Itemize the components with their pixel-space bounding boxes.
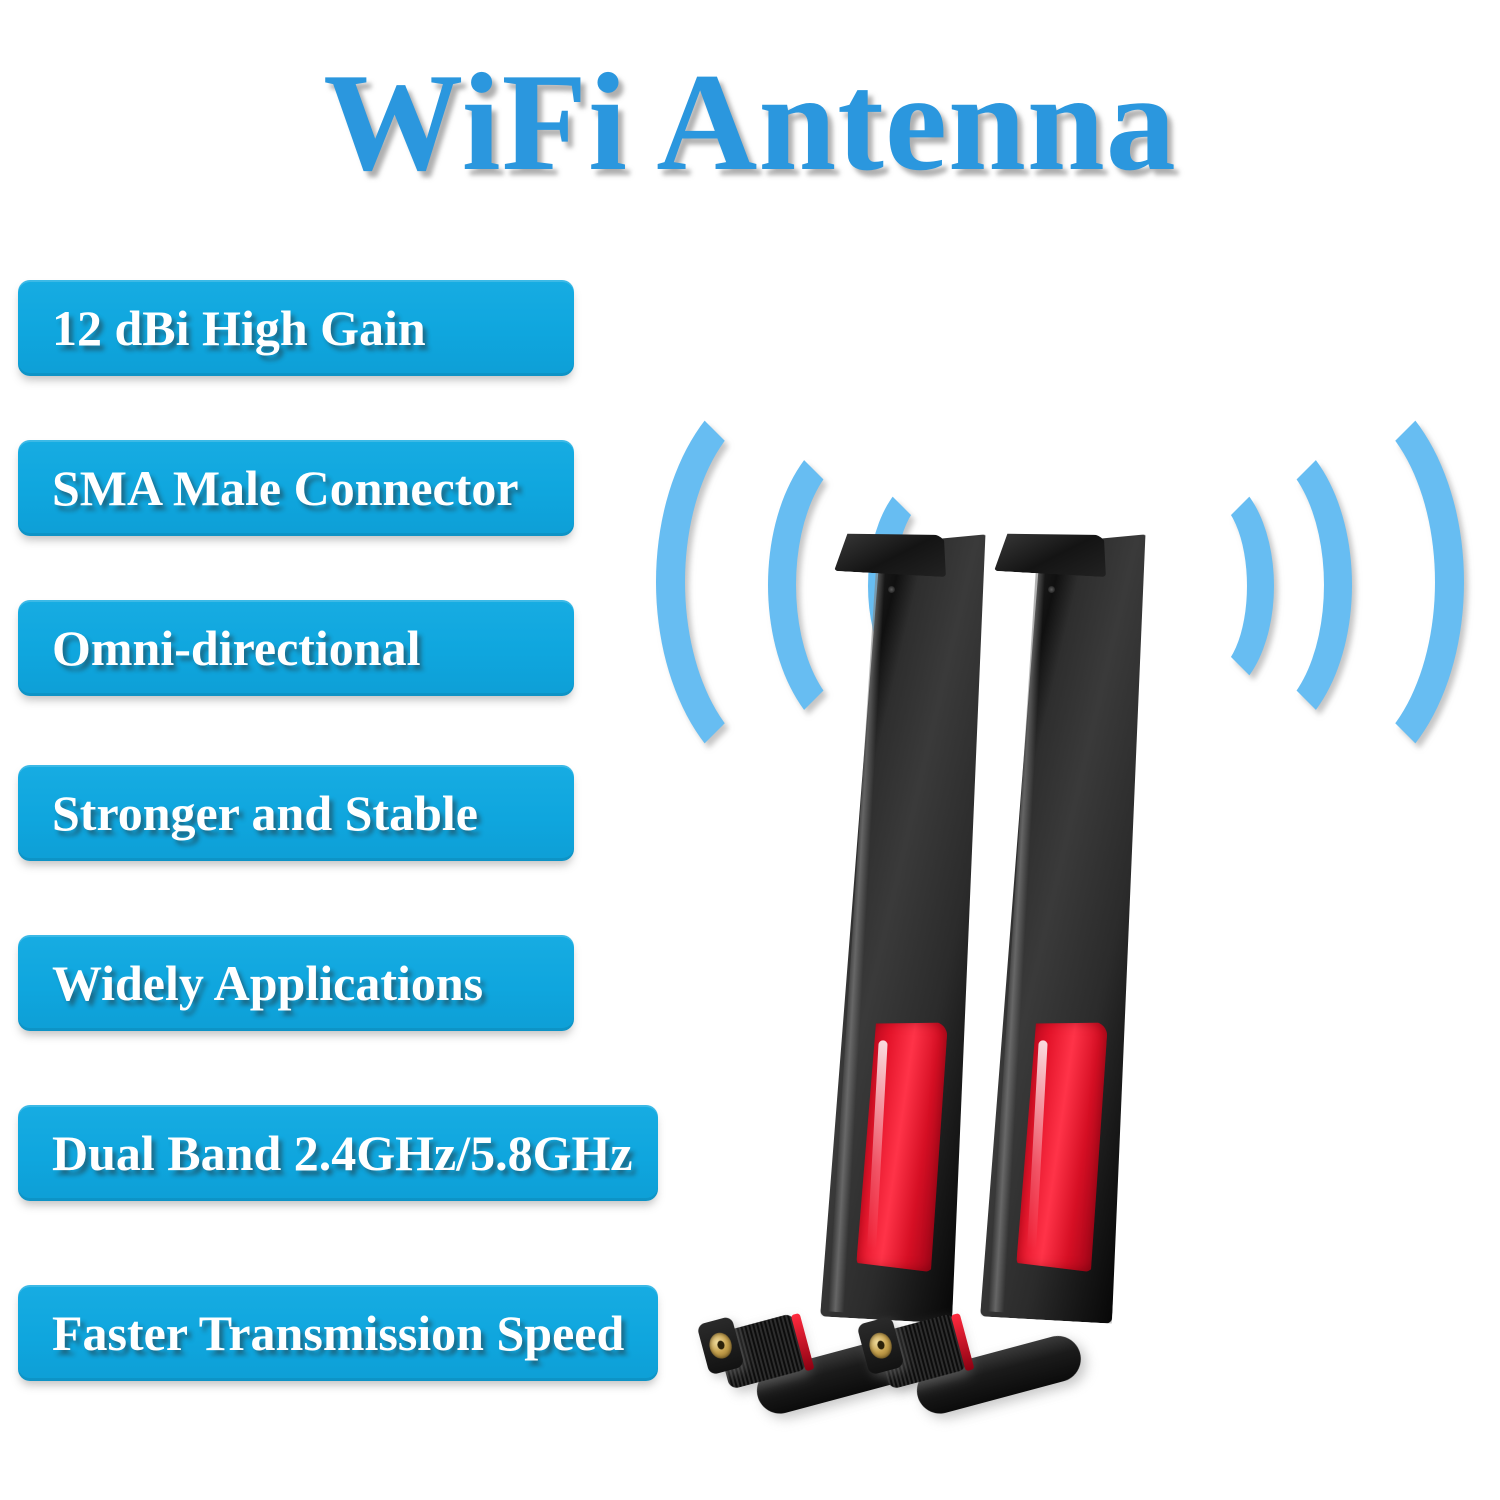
feature-badge-label: Faster Transmission Speed xyxy=(52,1306,624,1360)
feature-badge-label: SMA Male Connector xyxy=(52,461,519,515)
feature-badge-list: 12 dBi High Gain SMA Male Connector Omni… xyxy=(0,0,720,1500)
antenna-pinhole-detail xyxy=(888,586,895,593)
sma-gold-contact xyxy=(707,1330,735,1361)
feature-badge-label: Omni-directional xyxy=(52,621,421,675)
product-marketing-image: WiFi Antenna 12 dBi High Gain SMA Male C… xyxy=(0,0,1500,1500)
antenna-blade-cap xyxy=(834,529,948,577)
feature-badge-stronger-stable: Stronger and Stable xyxy=(18,765,574,861)
antenna-unit xyxy=(950,520,1200,1400)
antenna-blade-cap xyxy=(994,529,1108,577)
feature-badge-gain: 12 dBi High Gain xyxy=(18,280,574,376)
feature-badge-transmission-speed: Faster Transmission Speed xyxy=(18,1285,658,1381)
antenna-pinhole-detail xyxy=(1048,586,1055,593)
feature-badge-label: Dual Band 2.4GHz/5.8GHz xyxy=(52,1126,633,1180)
feature-badge-connector: SMA Male Connector xyxy=(18,440,574,536)
feature-badge-omni-directional: Omni-directional xyxy=(18,600,574,696)
feature-badge-label: Stronger and Stable xyxy=(52,786,478,840)
feature-badge-dual-band: Dual Band 2.4GHz/5.8GHz xyxy=(18,1105,658,1201)
feature-badge-label: Widely Applications xyxy=(52,956,483,1010)
feature-badge-label: 12 dBi High Gain xyxy=(52,301,426,355)
product-image xyxy=(620,340,1500,1400)
sma-gold-contact xyxy=(867,1330,895,1361)
feature-badge-widely-applications: Widely Applications xyxy=(18,935,574,1031)
sma-connector-face xyxy=(696,1316,744,1376)
